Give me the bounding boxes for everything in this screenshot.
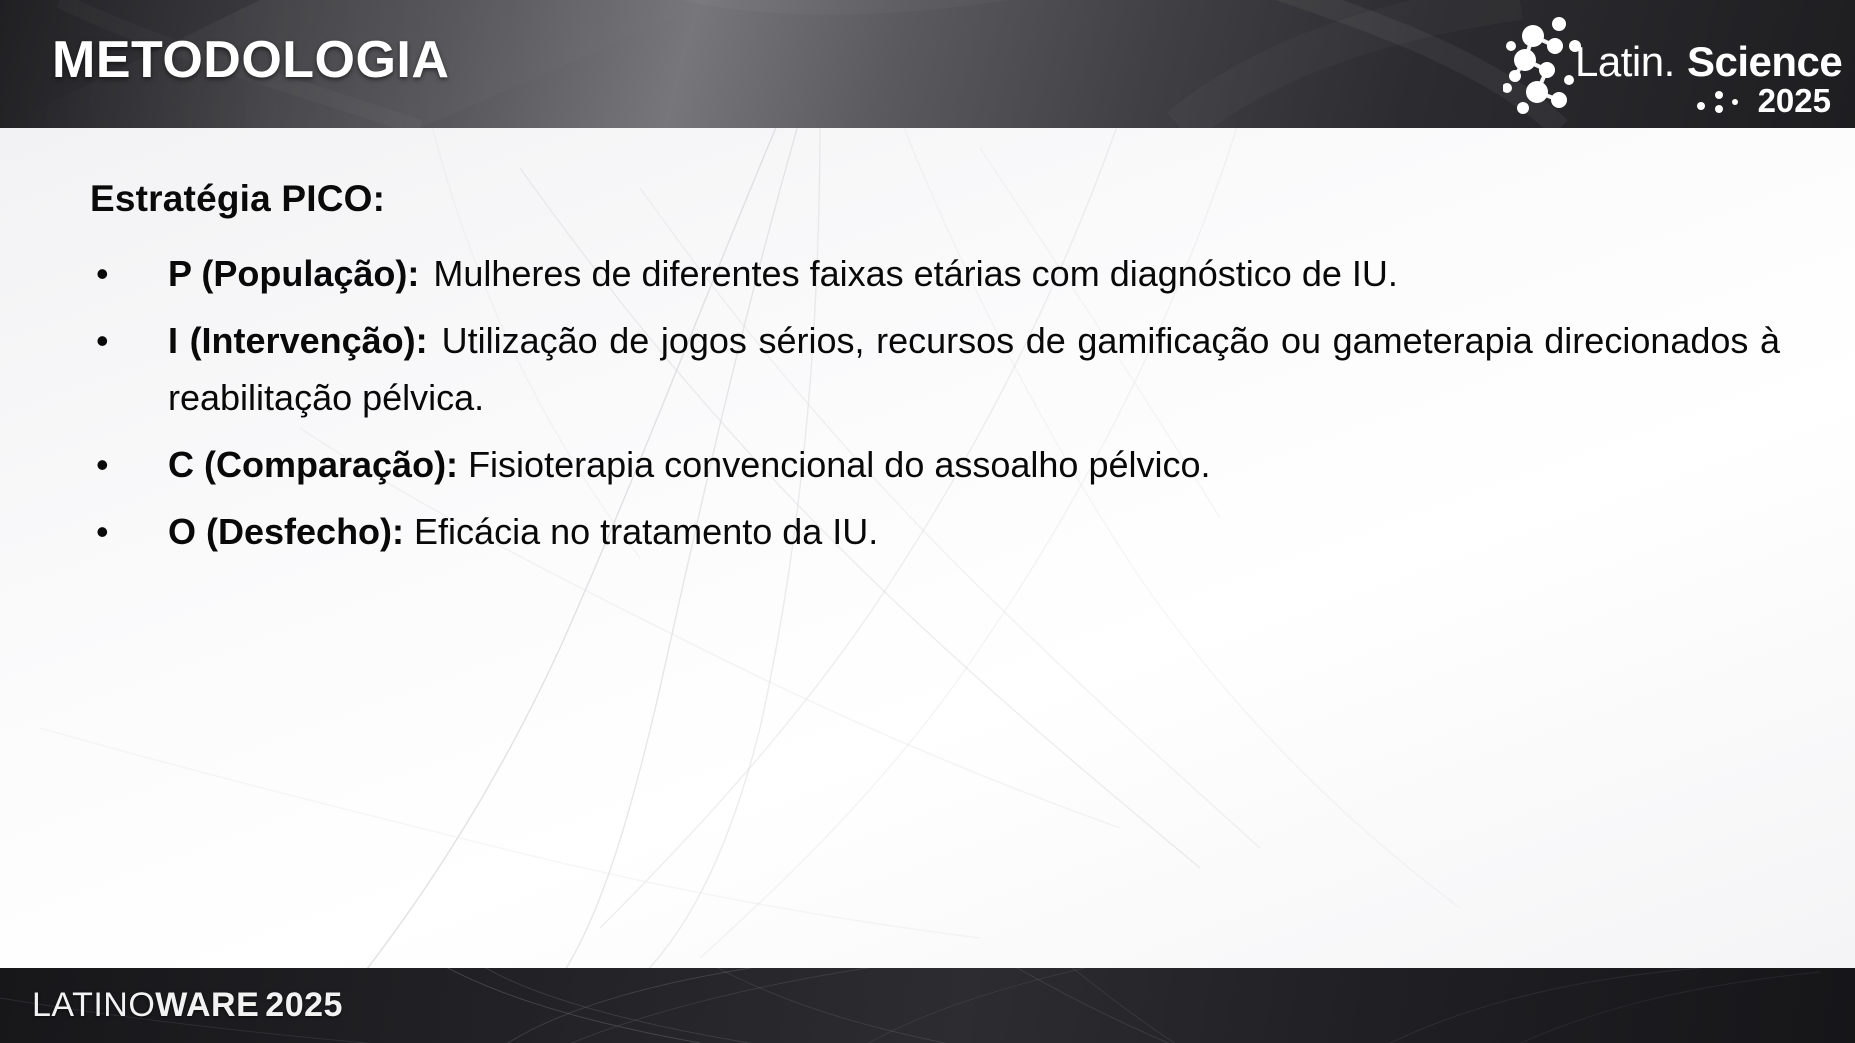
latinoware-brand: LATINOWARE2025	[32, 986, 343, 1025]
footer-ware-text: WARE	[155, 986, 259, 1024]
bullet-comparison-label: C (Comparação):	[168, 444, 458, 485]
bullet-comparison-text: Fisioterapia convencional do assoalho pé…	[468, 444, 1210, 485]
bullet-population-label: P (População):	[168, 253, 419, 294]
bullet-intervention: • I (Intervenção):Utilização de jogos sé…	[90, 313, 1780, 427]
bullet-outcome-label: O (Desfecho):	[168, 511, 404, 552]
presentation-slide: METODOLOGIA	[0, 0, 1855, 1043]
logo-science-text: Science	[1687, 38, 1842, 86]
slide-footer: LATINOWARE2025	[0, 968, 1855, 1043]
slide-title: METODOLOGIA	[52, 30, 449, 90]
slide-body: Estratégia PICO: • P (População):Mulhere…	[0, 128, 1855, 968]
latin-science-logo: Latin. Science 2025	[1503, 14, 1833, 114]
bullet-comparison: • C (Comparação): Fisioterapia convencio…	[90, 437, 1780, 494]
slide-content: Estratégia PICO: • P (População):Mulhere…	[90, 178, 1780, 570]
bullet-outcome-text: Eficácia no tratamento da IU.	[414, 511, 878, 552]
bullet-marker-icon: •	[96, 437, 109, 494]
logo-year-text: 2025	[1758, 82, 1831, 120]
footer-year-text: 2025	[265, 986, 343, 1024]
pico-bullet-list: • P (População):Mulheres de diferentes f…	[90, 246, 1780, 560]
logo-latin-text: Latin.	[1575, 38, 1675, 86]
bullet-marker-icon: •	[96, 246, 109, 303]
bullet-population-text: Mulheres de diferentes faixas etárias co…	[433, 253, 1398, 294]
bullet-outcome: • O (Desfecho): Eficácia no tratamento d…	[90, 504, 1780, 561]
bullet-population: • P (População):Mulheres de diferentes f…	[90, 246, 1780, 303]
bullet-marker-icon: •	[96, 504, 109, 561]
bullet-marker-icon: •	[96, 313, 109, 370]
pico-strategy-heading: Estratégia PICO:	[90, 178, 1780, 220]
logo-wordmark: Latin. Science 2025	[1575, 38, 1833, 114]
slide-header: METODOLOGIA	[0, 0, 1855, 128]
footer-latino-text: LATINO	[32, 986, 155, 1024]
logo-dots-icon	[1695, 90, 1741, 114]
bullet-intervention-label: I (Intervenção):	[168, 320, 428, 361]
